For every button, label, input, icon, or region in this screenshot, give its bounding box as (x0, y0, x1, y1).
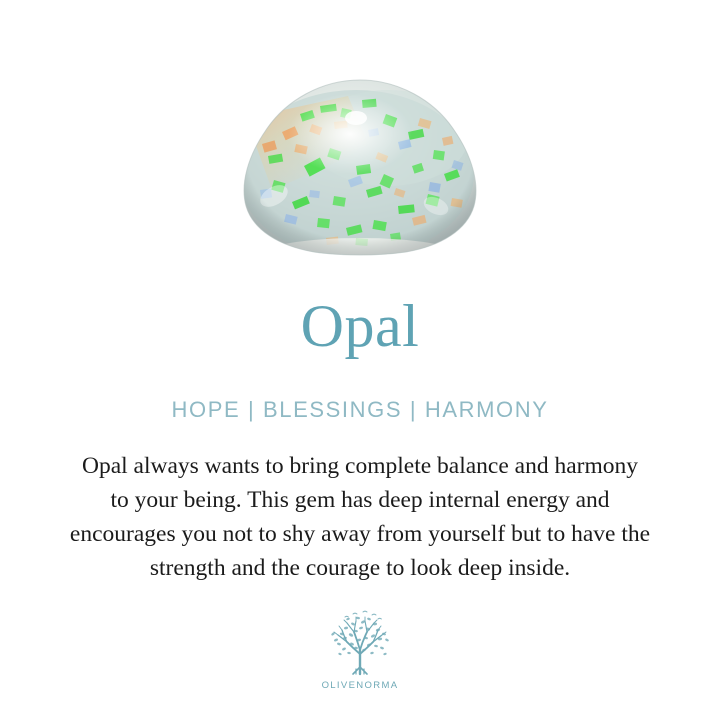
brand-name: OLIVENORMA (322, 680, 399, 691)
tree-of-life-icon (323, 610, 397, 678)
brand-logo: OLIVENORMA (0, 610, 720, 691)
page-title: Opal (0, 292, 720, 360)
keyword-line: HOPE | BLESSINGS | HARMONY (0, 396, 720, 424)
description-line: encourages you not to shy away from your… (22, 517, 698, 551)
description-line: Opal always wants to bring complete bala… (22, 449, 698, 483)
gem-image-container (0, 78, 720, 263)
opal-cabochon-icon (238, 78, 482, 256)
description-text: Opal always wants to bring complete bala… (22, 449, 698, 585)
description-line: strength and the courage to look deep in… (22, 551, 698, 585)
description-line: to your being. This gem has deep interna… (22, 483, 698, 517)
gemstone-info-card: Opal HOPE | BLESSINGS | HARMONY Opal alw… (0, 0, 720, 720)
